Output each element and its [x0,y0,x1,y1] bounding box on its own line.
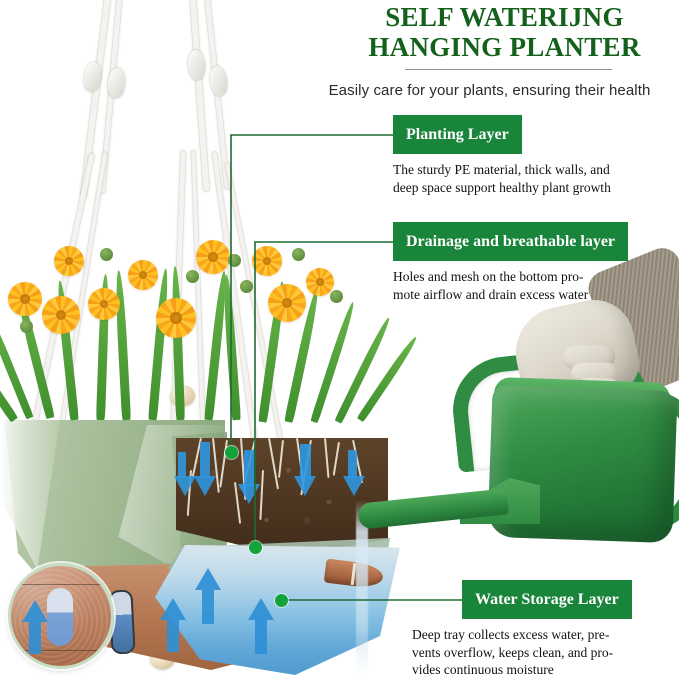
flower [268,284,306,322]
green-watering-can [398,300,679,570]
flower [42,296,80,334]
cord-knot [107,67,126,98]
flower [88,288,120,320]
magnified-level-window [47,588,73,646]
title-line-2: HANGING PLANTER [330,32,679,62]
callout-planting-layer: Planting Layer The sturdy PE material, t… [393,115,611,196]
flower [156,298,196,338]
callout-description-planting-layer: The sturdy PE material, thick walls, and… [393,161,611,196]
callout-label-drainage-breathable-layer: Drainage and breathable layer [393,222,628,261]
callout-label-planting-layer: Planting Layer [393,115,522,154]
flower [306,268,334,296]
leader-endpoint-dot [275,594,288,607]
callout-description-water-storage-layer: Deep tray collects excess water, pre- ve… [412,626,662,679]
callout-label-water-storage-layer: Water Storage Layer [462,580,632,619]
product-image [0,0,420,682]
title-divider [405,69,612,70]
cord-knot [187,49,206,80]
flower [252,246,282,276]
cord-knot [208,65,229,97]
callout-water-storage-layer: Water Storage Layer Deep tray collects e… [462,580,662,679]
flower [196,240,230,274]
flower [8,282,42,316]
leader-endpoint-dot [249,541,262,554]
infographic-canvas: SELF WATERIJNG HANGING PLANTER Easily ca… [0,0,679,682]
page-title: SELF WATERIJNG HANGING PLANTER [330,2,679,62]
callout-drainage-breathable-layer: Drainage and breathable layer Holes and … [393,222,628,303]
page-subtitle: Easily care for your plants, ensuring th… [300,82,679,99]
callout-description-drainage-breathable-layer: Holes and mesh on the bottom pro- mote a… [393,268,628,303]
flower [128,260,158,290]
leader-endpoint-dot [225,446,238,459]
plant-foliage [0,240,400,470]
flower [54,246,84,276]
title-line-1: SELF WATERIJNG [330,2,679,32]
